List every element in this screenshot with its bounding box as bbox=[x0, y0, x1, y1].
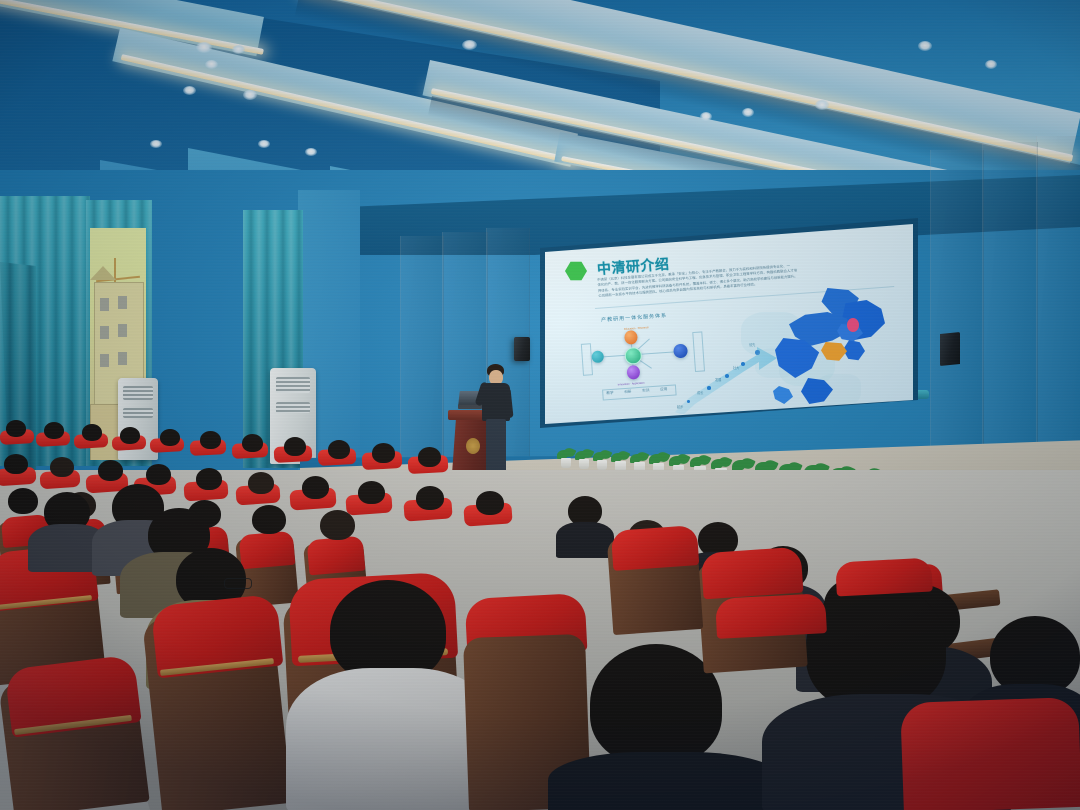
green-hexagon-icon bbox=[565, 261, 587, 281]
growth-point bbox=[687, 400, 690, 403]
audience-head bbox=[242, 434, 263, 452]
roof-eave bbox=[90, 266, 116, 280]
right-wall-speaker bbox=[940, 332, 960, 366]
downlight bbox=[462, 40, 477, 50]
downlight bbox=[196, 42, 212, 53]
audience-head bbox=[200, 431, 221, 449]
downlight bbox=[918, 41, 932, 51]
node-footer-label: 实训 bbox=[642, 388, 650, 393]
growth-point bbox=[707, 386, 711, 390]
growth-label: 成长 bbox=[697, 390, 703, 395]
building-window bbox=[100, 326, 109, 339]
node-left bbox=[591, 350, 604, 363]
audience-head bbox=[8, 488, 38, 514]
eyeglasses-icon bbox=[224, 578, 252, 589]
empty-seat bbox=[835, 558, 933, 597]
node-center bbox=[624, 347, 642, 365]
seat-cushion bbox=[307, 536, 366, 576]
audience-shoulders bbox=[556, 522, 614, 558]
audience-head bbox=[146, 464, 171, 485]
left-wall-speaker bbox=[514, 337, 530, 361]
downlight bbox=[258, 140, 270, 148]
node-top bbox=[624, 330, 638, 345]
seat-cushion bbox=[239, 531, 296, 570]
building-window bbox=[118, 324, 127, 337]
audience-head bbox=[44, 422, 64, 439]
seat-cushion bbox=[611, 525, 700, 571]
china-map bbox=[735, 282, 910, 422]
audience-head bbox=[6, 420, 26, 437]
downlight bbox=[305, 148, 317, 156]
audience-head bbox=[4, 454, 28, 474]
node-diagram-title: 产教研用一体化服务体系 bbox=[601, 312, 667, 324]
audience-head bbox=[160, 429, 180, 446]
audience-head bbox=[196, 468, 222, 490]
downlight bbox=[985, 60, 997, 69]
wall-panel bbox=[930, 150, 984, 480]
building-window bbox=[118, 296, 127, 309]
audience-head bbox=[98, 460, 123, 481]
building-window bbox=[100, 354, 109, 367]
ac-vent bbox=[123, 386, 153, 400]
audience-shoulders bbox=[548, 752, 784, 810]
downlight bbox=[815, 100, 829, 110]
seat-cushion bbox=[900, 697, 1080, 810]
downlight bbox=[243, 90, 257, 100]
projection-screen: 中清研介绍 中清研（北京）科技发展有限公司成立于北京，秉承「安全」为核心、专注于… bbox=[545, 224, 913, 424]
node-diagram-subtitle-bottom: Innovation · Application bbox=[618, 382, 645, 387]
map-marker bbox=[847, 318, 859, 332]
downlight bbox=[700, 112, 712, 121]
ac-vent bbox=[276, 377, 310, 393]
downlight bbox=[205, 60, 218, 69]
audience-head bbox=[82, 424, 102, 441]
slide: 中清研介绍 中清研（北京）科技发展有限公司成立于北京，秉承「安全」为核心、专注于… bbox=[545, 224, 913, 424]
node-footer-label: 应用 bbox=[660, 387, 668, 392]
downlight bbox=[150, 140, 162, 148]
building-window bbox=[118, 352, 127, 365]
building-window bbox=[100, 298, 109, 311]
node-footer-label: 教学 bbox=[606, 391, 614, 396]
ac-vent bbox=[276, 402, 310, 413]
auditorium-photo: 中清研介绍 中清研（北京）科技发展有限公司成立于北京，秉承「安全」为核心、专注于… bbox=[0, 0, 1080, 810]
wall-panel bbox=[982, 142, 1038, 482]
downlight bbox=[232, 45, 245, 54]
downlight bbox=[742, 108, 754, 117]
audience-head bbox=[120, 427, 140, 444]
growth-label: 发展 bbox=[715, 377, 721, 382]
audience-head-foreground bbox=[806, 582, 946, 710]
audience-head-foreground bbox=[330, 580, 446, 682]
ac-vent bbox=[123, 408, 153, 418]
downlight bbox=[183, 86, 196, 95]
map-coastal-strip bbox=[773, 386, 793, 404]
node-bottom bbox=[626, 365, 640, 380]
growth-point bbox=[725, 374, 729, 378]
seat-cushion bbox=[701, 547, 804, 600]
node-footer-label: 科研 bbox=[624, 390, 632, 395]
wall-panel bbox=[1036, 136, 1080, 482]
audience-head bbox=[50, 457, 74, 477]
growth-label: 起步 bbox=[677, 404, 683, 409]
empty-seat bbox=[715, 593, 827, 639]
node-left-label-box bbox=[581, 343, 593, 376]
audience-head bbox=[320, 510, 355, 540]
audience-head bbox=[252, 505, 286, 534]
